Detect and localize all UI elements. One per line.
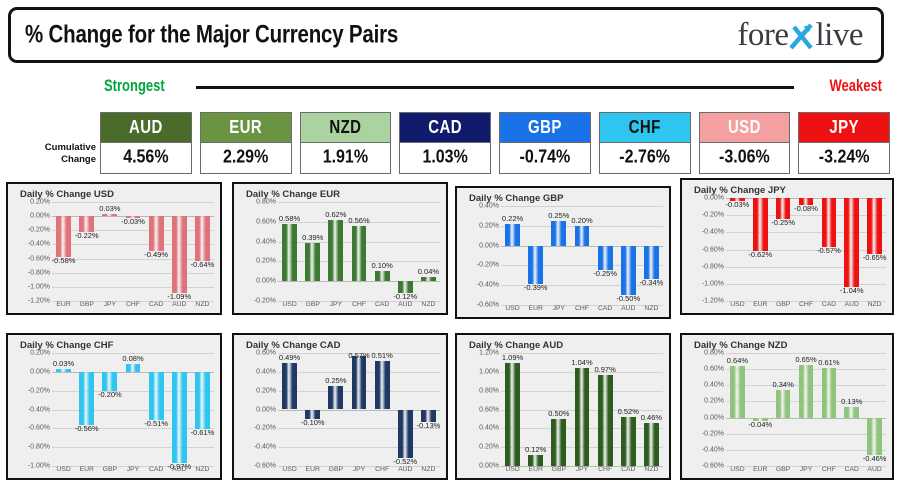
y-tick-label: -0.40% [702, 229, 724, 236]
currency-card-value: 1.91% [301, 142, 391, 173]
x-tick-label: NZD [640, 302, 663, 316]
bar-value-label: 0.58% [279, 214, 300, 223]
x-tick-label: USD [726, 298, 749, 312]
x-tick-label: CAD [145, 298, 168, 312]
bar-value-label: 1.09% [502, 353, 523, 362]
bar-slot: -0.49% [145, 202, 168, 297]
y-tick-label: -0.60% [702, 463, 724, 470]
x-tick-label: CHF [795, 298, 818, 312]
currency-card-eur[interactable]: EUR2.29% [200, 112, 292, 174]
currency-card-code: EUR [201, 113, 291, 142]
bar-slot: -0.10% [301, 353, 324, 462]
chart-bars-cad: 0.49%-0.10%0.25%0.57%0.51%-0.52%-0.13% [278, 353, 440, 462]
x-tick-label: EUR [524, 463, 547, 477]
x-tick-label: AUD [168, 463, 191, 477]
bar-value-label: -0.58% [52, 256, 76, 265]
x-tick-label: NZD [417, 298, 440, 312]
y-tick-label: 0.40% [479, 425, 499, 432]
logo-text-fore: fore [737, 17, 788, 54]
chart-y-axis-nzd: 0.80%0.60%0.40%0.20%0.00%-0.20%-0.40%-0.… [684, 353, 724, 478]
chart-panel-nzd[interactable]: Daily % Change NZD0.80%0.60%0.40%0.20%0.… [680, 333, 894, 480]
x-tick-label: USD [501, 302, 524, 316]
bar-gbp[interactable] [79, 216, 94, 232]
currency-card-jpy[interactable]: JPY-3.24% [798, 112, 890, 174]
bar-jpy[interactable] [551, 221, 566, 246]
currency-card-nzd[interactable]: NZD1.91% [300, 112, 392, 174]
chart-gridlines-aud: 1.09%0.12%0.50%1.04%0.97%0.52%0.46% [501, 353, 663, 462]
currency-card-usd[interactable]: USD-3.06% [699, 112, 791, 174]
bar-jpy[interactable] [352, 356, 367, 410]
chart-x-axis-jpy: USDEURGBPCHFCADAUDNZD [726, 298, 886, 312]
bar-jpy[interactable] [328, 220, 343, 281]
bar-slot: 0.25% [547, 206, 570, 301]
bar-slot: -0.03% [726, 198, 749, 297]
chart-plot-area-cad: 0.60%0.40%0.20%0.00%-0.20%-0.40%-0.60%0.… [234, 353, 444, 478]
chart-panel-cad[interactable]: Daily % Change CAD0.60%0.40%0.20%0.00%-0… [232, 333, 448, 480]
bar-slot: 0.62% [324, 202, 347, 297]
bar-value-label: 0.20% [571, 216, 592, 225]
bar-slot: -0.03% [121, 202, 144, 297]
x-tick-label: USD [278, 298, 301, 312]
x-tick-label: CHF [594, 463, 617, 477]
bar-jpy[interactable] [575, 368, 590, 466]
y-tick-label: -1.00% [28, 283, 50, 290]
x-tick-label: AUD [840, 298, 863, 312]
bar-aud[interactable] [844, 198, 859, 287]
bar-value-label: 0.03% [99, 204, 120, 213]
bar-slot: 0.12% [524, 353, 547, 462]
y-tick-label: 0.40% [256, 368, 276, 375]
bar-nzd[interactable] [421, 277, 436, 281]
y-tick-label: 0.60% [479, 406, 499, 413]
bar-slot: -0.34% [640, 206, 663, 301]
bar-slot: 0.10% [371, 202, 394, 297]
bar-slot: 0.65% [795, 353, 818, 462]
x-tick-label: GBP [772, 298, 795, 312]
x-tick-label: EUR [52, 298, 75, 312]
bar-slot: 1.04% [570, 353, 593, 462]
currency-card-code-text: CHF [629, 117, 661, 137]
bar-jpy[interactable] [102, 214, 117, 216]
x-tick-label: CHF [570, 302, 593, 316]
y-tick-label: -0.40% [254, 444, 276, 451]
bar-chf[interactable] [352, 226, 367, 281]
bar-value-label: -0.25% [771, 218, 795, 227]
currency-card-value-text: 4.56% [123, 147, 168, 168]
bar-chf[interactable] [575, 226, 590, 246]
bar-slot: -0.61% [191, 353, 214, 462]
bar-slot: -0.08% [795, 198, 818, 297]
y-tick-label: -0.20% [702, 212, 724, 219]
currency-card-value-text: -3.06% [719, 147, 770, 168]
chart-panel-usd[interactable]: Daily % Change USD0.20%0.00%-0.20%-0.40%… [6, 182, 222, 315]
bar-slot: -0.56% [75, 353, 98, 462]
bar-slot: 0.25% [324, 353, 347, 462]
bar-usd[interactable] [282, 363, 297, 409]
x-tick-label: JPY [547, 302, 570, 316]
chart-bars-nzd: 0.64%-0.04%0.34%0.65%0.61%0.13%-0.46% [726, 353, 886, 462]
x-tick-label: GBP [772, 463, 795, 477]
bar-gbp[interactable] [328, 386, 343, 410]
y-tick-label: -0.60% [28, 255, 50, 262]
chart-x-axis-cad: USDEURGBPJPYCHFAUDNZD [278, 463, 440, 477]
bar-aud[interactable] [398, 410, 413, 459]
bar-value-label: 0.12% [525, 445, 546, 454]
chart-y-axis-chf: 0.20%0.00%-0.20%-0.40%-0.60%-0.80%-1.00% [10, 353, 50, 478]
chart-x-axis-eur: USDGBPJPYCHFCADAUDNZD [278, 298, 440, 312]
bar-value-label: -0.34% [640, 278, 664, 287]
bar-eur[interactable] [79, 372, 94, 425]
x-tick-label: USD [52, 463, 75, 477]
bar-nzd[interactable] [195, 216, 210, 261]
bar-slot: -0.22% [75, 202, 98, 297]
chart-plot-area-nzd: 0.80%0.60%0.40%0.20%0.00%-0.20%-0.40%-0.… [682, 353, 890, 478]
chart-panel-chf[interactable]: Daily % Change CHF0.20%0.00%-0.20%-0.40%… [6, 333, 222, 480]
weakest-label: Weakest [829, 76, 882, 95]
currency-card-value-text: -3.24% [819, 147, 870, 168]
bar-value-label: -1.04% [840, 286, 864, 295]
bar-slot: -0.25% [772, 198, 795, 297]
y-tick-label: 0.80% [256, 199, 276, 206]
bar-slot: 0.34% [772, 353, 795, 462]
bar-gbp[interactable] [776, 198, 791, 219]
bar-value-label: -0.04% [748, 420, 772, 429]
bar-value-label: 0.64% [727, 356, 748, 365]
x-tick-label: NZD [191, 298, 214, 312]
chart-bars-jpy: -0.03%-0.62%-0.25%-0.08%-0.57%-1.04%-0.6… [726, 198, 886, 297]
bar-slot: -0.12% [394, 202, 417, 297]
currency-card-code: USD [700, 113, 790, 142]
bar-slot: 0.61% [817, 353, 840, 462]
currency-card-code: JPY [799, 113, 889, 142]
chart-x-axis-gbp: USDEURJPYCHFCADAUDNZD [501, 302, 663, 316]
x-tick-label: USD [278, 463, 301, 477]
y-tick-label: -0.80% [28, 269, 50, 276]
bar-slot: -0.50% [617, 206, 640, 301]
y-tick-label: 0.00% [479, 242, 499, 249]
x-tick-label: CAD [145, 463, 168, 477]
logo-x-arrow-icon [789, 19, 816, 52]
bar-value-label: -0.65% [863, 253, 887, 262]
bar-slot: 0.13% [840, 353, 863, 462]
x-tick-label: EUR [749, 463, 772, 477]
currency-card-gbp[interactable]: GBP-0.74% [499, 112, 591, 174]
cumulative-change-label-line2: Change [18, 154, 96, 166]
y-tick-label: -0.40% [702, 446, 724, 453]
currency-card-code: CHF [600, 113, 690, 142]
chart-y-axis-gbp: 0.40%0.20%0.00%-0.20%-0.40%-0.60% [459, 206, 499, 317]
chart-plot-area-gbp: 0.40%0.20%0.00%-0.20%-0.40%-0.60%0.22%-0… [457, 206, 667, 317]
y-tick-label: 1.20% [479, 350, 499, 357]
chart-gridlines-chf: 0.03%-0.56%-0.20%0.08%-0.51%-0.97%-0.61% [52, 353, 214, 462]
chart-bars-eur: 0.58%0.39%0.62%0.56%0.10%-0.12%0.04% [278, 202, 440, 297]
chart-x-axis-aud: USDEURGBPJPYCHFCADNZD [501, 463, 663, 477]
bar-value-label: 0.04% [418, 267, 439, 276]
chart-panel-gbp[interactable]: Daily % Change GBP0.40%0.20%0.00%-0.20%-… [455, 186, 671, 319]
y-tick-label: -0.80% [28, 444, 50, 451]
bar-jpy[interactable] [799, 365, 814, 417]
bar-value-label: -0.56% [75, 424, 99, 433]
y-tick-label: 0.00% [30, 368, 50, 375]
x-tick-label: NZD [640, 463, 663, 477]
x-tick-label: NZD [191, 463, 214, 477]
y-tick-label: 0.20% [30, 199, 50, 206]
bar-chf[interactable] [598, 375, 613, 466]
currency-card-code-text: GBP [528, 117, 562, 137]
bar-gbp[interactable] [776, 390, 791, 417]
bar-value-label: 0.57% [348, 351, 369, 360]
x-tick-label: NZD [417, 463, 440, 477]
bar-eur[interactable] [753, 198, 768, 251]
currency-card-code: CAD [400, 113, 490, 142]
y-tick-label: 0.60% [256, 218, 276, 225]
y-tick-label: -0.60% [702, 246, 724, 253]
bar-value-label: -0.22% [75, 231, 99, 240]
bar-value-label: 0.61% [818, 358, 839, 367]
bar-cad[interactable] [149, 216, 164, 251]
chart-plot-area-eur: 0.80%0.60%0.40%0.20%0.00%-0.20%0.58%0.39… [234, 202, 444, 313]
bar-slot: -0.64% [191, 202, 214, 297]
chart-panel-jpy[interactable]: Daily % Change JPY0.00%-0.20%-0.40%-0.60… [680, 178, 894, 315]
currency-card-value: 4.56% [101, 142, 191, 173]
bar-cad[interactable] [149, 372, 164, 420]
page-title: % Change for the Major Currency Pairs [11, 20, 398, 49]
x-tick-label: EUR [524, 302, 547, 316]
bar-value-label: -0.46% [863, 454, 887, 463]
chart-panel-eur[interactable]: Daily % Change EUR0.80%0.60%0.40%0.20%0.… [232, 182, 448, 315]
chart-bars-aud: 1.09%0.12%0.50%1.04%0.97%0.52%0.46% [501, 353, 663, 462]
chart-y-axis-eur: 0.80%0.60%0.40%0.20%0.00%-0.20% [236, 202, 276, 313]
currency-card-chf[interactable]: CHF-2.76% [599, 112, 691, 174]
bar-cad[interactable] [375, 271, 390, 281]
bar-slot: -0.65% [863, 198, 886, 297]
y-tick-label: -1.00% [702, 280, 724, 287]
bar-cad[interactable] [598, 246, 613, 271]
bar-slot: 0.50% [547, 353, 570, 462]
bar-slot: -0.97% [168, 353, 191, 462]
bar-gbp[interactable] [305, 243, 320, 282]
bar-cad[interactable] [844, 407, 859, 417]
x-tick-label: CHF [121, 298, 144, 312]
bar-value-label: -0.10% [301, 418, 325, 427]
bar-value-label: -0.51% [144, 419, 168, 428]
x-tick-label: EUR [749, 298, 772, 312]
x-tick-label: AUD [863, 463, 886, 477]
currency-card-code: NZD [301, 113, 391, 142]
bar-eur[interactable] [56, 216, 71, 257]
bar-value-label: -0.39% [524, 283, 548, 292]
bar-slot: -0.04% [749, 353, 772, 462]
y-tick-label: 0.20% [479, 444, 499, 451]
bar-value-label: 0.03% [53, 359, 74, 368]
bar-value-label: 0.52% [618, 407, 639, 416]
y-tick-label: 0.00% [256, 406, 276, 413]
y-tick-label: -0.20% [702, 430, 724, 437]
chart-x-axis-chf: USDEURGBPJPYCADAUDNZD [52, 463, 214, 477]
x-tick-label: CAD [617, 463, 640, 477]
y-tick-label: 0.20% [479, 222, 499, 229]
bar-slot: 0.22% [501, 206, 524, 301]
x-tick-label: GBP [301, 298, 324, 312]
bar-chf[interactable] [375, 361, 390, 409]
currency-card-value: 1.03% [400, 142, 490, 173]
bar-value-label: 0.10% [371, 261, 392, 270]
y-tick-label: -0.60% [254, 463, 276, 470]
bar-slot: -0.20% [98, 353, 121, 462]
y-tick-label: 0.00% [30, 213, 50, 220]
x-tick-label: AUD [394, 298, 417, 312]
y-tick-label: 0.20% [256, 258, 276, 265]
y-tick-label: 0.80% [704, 350, 724, 357]
currency-card-value: 2.29% [201, 142, 291, 173]
bar-jpy[interactable] [126, 364, 141, 372]
bar-value-label: 0.39% [302, 233, 323, 242]
bar-nzd[interactable] [867, 198, 882, 254]
bar-nzd[interactable] [644, 246, 659, 280]
bar-aud[interactable] [867, 418, 882, 455]
bar-cad[interactable] [621, 417, 636, 466]
bar-value-label: -0.62% [748, 250, 772, 259]
y-tick-label: -0.60% [477, 302, 499, 309]
x-tick-label: AUD [617, 302, 640, 316]
bar-slot: -0.39% [524, 206, 547, 301]
bar-value-label: 0.51% [371, 351, 392, 360]
bar-slot: -0.13% [417, 353, 440, 462]
x-tick-label: USD [501, 463, 524, 477]
chart-bars-chf: 0.03%-0.56%-0.20%0.08%-0.51%-0.97%-0.61% [52, 353, 214, 462]
bar-gbp[interactable] [551, 419, 566, 466]
currency-card-code-text: AUD [129, 117, 163, 137]
currency-card-cad[interactable]: CAD1.03% [399, 112, 491, 174]
chart-gridlines-jpy: -0.03%-0.62%-0.25%-0.08%-0.57%-1.04%-0.6… [726, 198, 886, 297]
bar-value-label: 0.08% [122, 354, 143, 363]
bar-slot: 0.58% [278, 202, 301, 297]
bar-aud[interactable] [172, 372, 187, 463]
bar-value-label: -0.13% [417, 421, 441, 430]
bar-value-label: -0.57% [817, 246, 841, 255]
bar-chf[interactable] [822, 368, 837, 417]
chart-gridlines-usd: -0.58%-0.22%0.03%-0.03%-0.49%-1.09%-0.64… [52, 202, 214, 297]
bar-value-label: 0.34% [773, 380, 794, 389]
bar-slot: -0.25% [594, 206, 617, 301]
currency-card-code-text: EUR [229, 117, 262, 137]
x-tick-label: AUD [394, 463, 417, 477]
bar-value-label: 0.49% [279, 353, 300, 362]
bar-slot: 0.20% [570, 206, 593, 301]
bar-usd[interactable] [505, 363, 520, 466]
currency-card-value-text: 2.29% [223, 147, 268, 168]
currency-card-code-text: CAD [428, 117, 462, 137]
chart-plot-area-usd: 0.20%0.00%-0.20%-0.40%-0.60%-0.80%-1.00%… [8, 202, 218, 313]
bar-value-label: -0.49% [144, 250, 168, 259]
bar-usd[interactable] [56, 369, 71, 372]
bar-slot: 0.52% [617, 353, 640, 462]
currency-card-value-text: -2.76% [619, 147, 670, 168]
logo-text-live: live [816, 17, 863, 54]
cumulative-change-label: Cumulative Change [18, 142, 96, 166]
y-tick-label: -0.20% [254, 298, 276, 305]
chart-gridlines-gbp: 0.22%-0.39%0.25%0.20%-0.25%-0.50%-0.34% [501, 206, 663, 301]
chart-plot-area-aud: 1.20%1.00%0.80%0.60%0.40%0.20%0.00%1.09%… [457, 353, 667, 478]
x-tick-label: CAD [594, 302, 617, 316]
x-tick-label: EUR [75, 463, 98, 477]
y-tick-label: 0.60% [704, 366, 724, 373]
bar-slot: 0.56% [347, 202, 370, 297]
y-tick-label: -0.20% [28, 227, 50, 234]
bar-slot: 0.46% [640, 353, 663, 462]
currency-card-value: -3.06% [700, 142, 790, 173]
y-tick-label: 0.60% [256, 350, 276, 357]
bar-cad[interactable] [822, 198, 837, 247]
bar-value-label: 0.62% [325, 210, 346, 219]
chart-y-axis-aud: 1.20%1.00%0.80%0.60%0.40%0.20%0.00% [459, 353, 499, 478]
x-tick-label: JPY [570, 463, 593, 477]
y-tick-label: -0.60% [28, 425, 50, 432]
x-tick-label: JPY [98, 298, 121, 312]
currency-card-value-text: 1.03% [422, 147, 467, 168]
currency-card-code: GBP [500, 113, 590, 142]
y-tick-label: 0.00% [704, 414, 724, 421]
currency-card-value-text: -0.74% [520, 147, 571, 168]
bar-slot: 0.04% [417, 202, 440, 297]
bar-usd[interactable] [505, 224, 520, 246]
chart-y-axis-jpy: 0.00%-0.20%-0.40%-0.60%-0.80%-1.00%-1.20… [684, 198, 724, 313]
x-tick-label: GBP [98, 463, 121, 477]
bar-slot: 0.39% [301, 202, 324, 297]
bar-usd[interactable] [730, 366, 745, 418]
bar-value-label: -0.64% [191, 260, 215, 269]
chart-y-axis-usd: 0.20%0.00%-0.20%-0.40%-0.60%-0.80%-1.00%… [10, 202, 50, 313]
y-tick-label: 0.00% [704, 195, 724, 202]
currency-card-aud[interactable]: AUD4.56% [100, 112, 192, 174]
bar-aud[interactable] [621, 246, 636, 296]
y-tick-label: -0.40% [28, 406, 50, 413]
x-tick-label: CAD [817, 298, 840, 312]
chart-x-axis-nzd: USDEURGBPJPYCHFCADAUD [726, 463, 886, 477]
strength-scale-line [196, 86, 794, 89]
currency-card-value: -2.76% [600, 142, 690, 173]
chart-bars-usd: -0.58%-0.22%0.03%-0.03%-0.49%-1.09%-0.64… [52, 202, 214, 297]
currency-card-code-text: USD [728, 117, 761, 137]
bar-nzd[interactable] [195, 372, 210, 429]
chart-panel-aud[interactable]: Daily % Change AUD1.20%1.00%0.80%0.60%0.… [455, 333, 671, 480]
x-tick-label: CAD [840, 463, 863, 477]
y-tick-label: 0.20% [704, 398, 724, 405]
bar-aud[interactable] [172, 216, 187, 293]
currency-card-value-text: 1.91% [323, 147, 368, 168]
y-tick-label: 0.80% [479, 387, 499, 394]
bar-nzd[interactable] [644, 423, 659, 466]
chart-plot-area-jpy: 0.00%-0.20%-0.40%-0.60%-0.80%-1.00%-1.20… [682, 198, 890, 313]
x-tick-label: CAD [371, 298, 394, 312]
y-tick-label: -0.40% [28, 241, 50, 248]
x-tick-label: CHF [347, 298, 370, 312]
bar-slot: 0.51% [371, 353, 394, 462]
chart-gridlines-eur: 0.58%0.39%0.62%0.56%0.10%-0.12%0.04% [278, 202, 440, 297]
bar-slot: 1.09% [501, 353, 524, 462]
bar-eur[interactable] [528, 246, 543, 285]
bar-value-label: -0.08% [794, 204, 818, 213]
bar-gbp[interactable] [102, 372, 117, 391]
x-tick-label: JPY [795, 463, 818, 477]
bar-value-label: -0.61% [191, 428, 215, 437]
x-tick-label: CHF [817, 463, 840, 477]
x-tick-label: USD [726, 463, 749, 477]
chart-gridlines-cad: 0.49%-0.10%0.25%0.57%0.51%-0.52%-0.13% [278, 353, 440, 462]
bar-slot: 0.49% [278, 353, 301, 462]
bar-usd[interactable] [282, 224, 297, 281]
x-tick-label: AUD [168, 298, 191, 312]
